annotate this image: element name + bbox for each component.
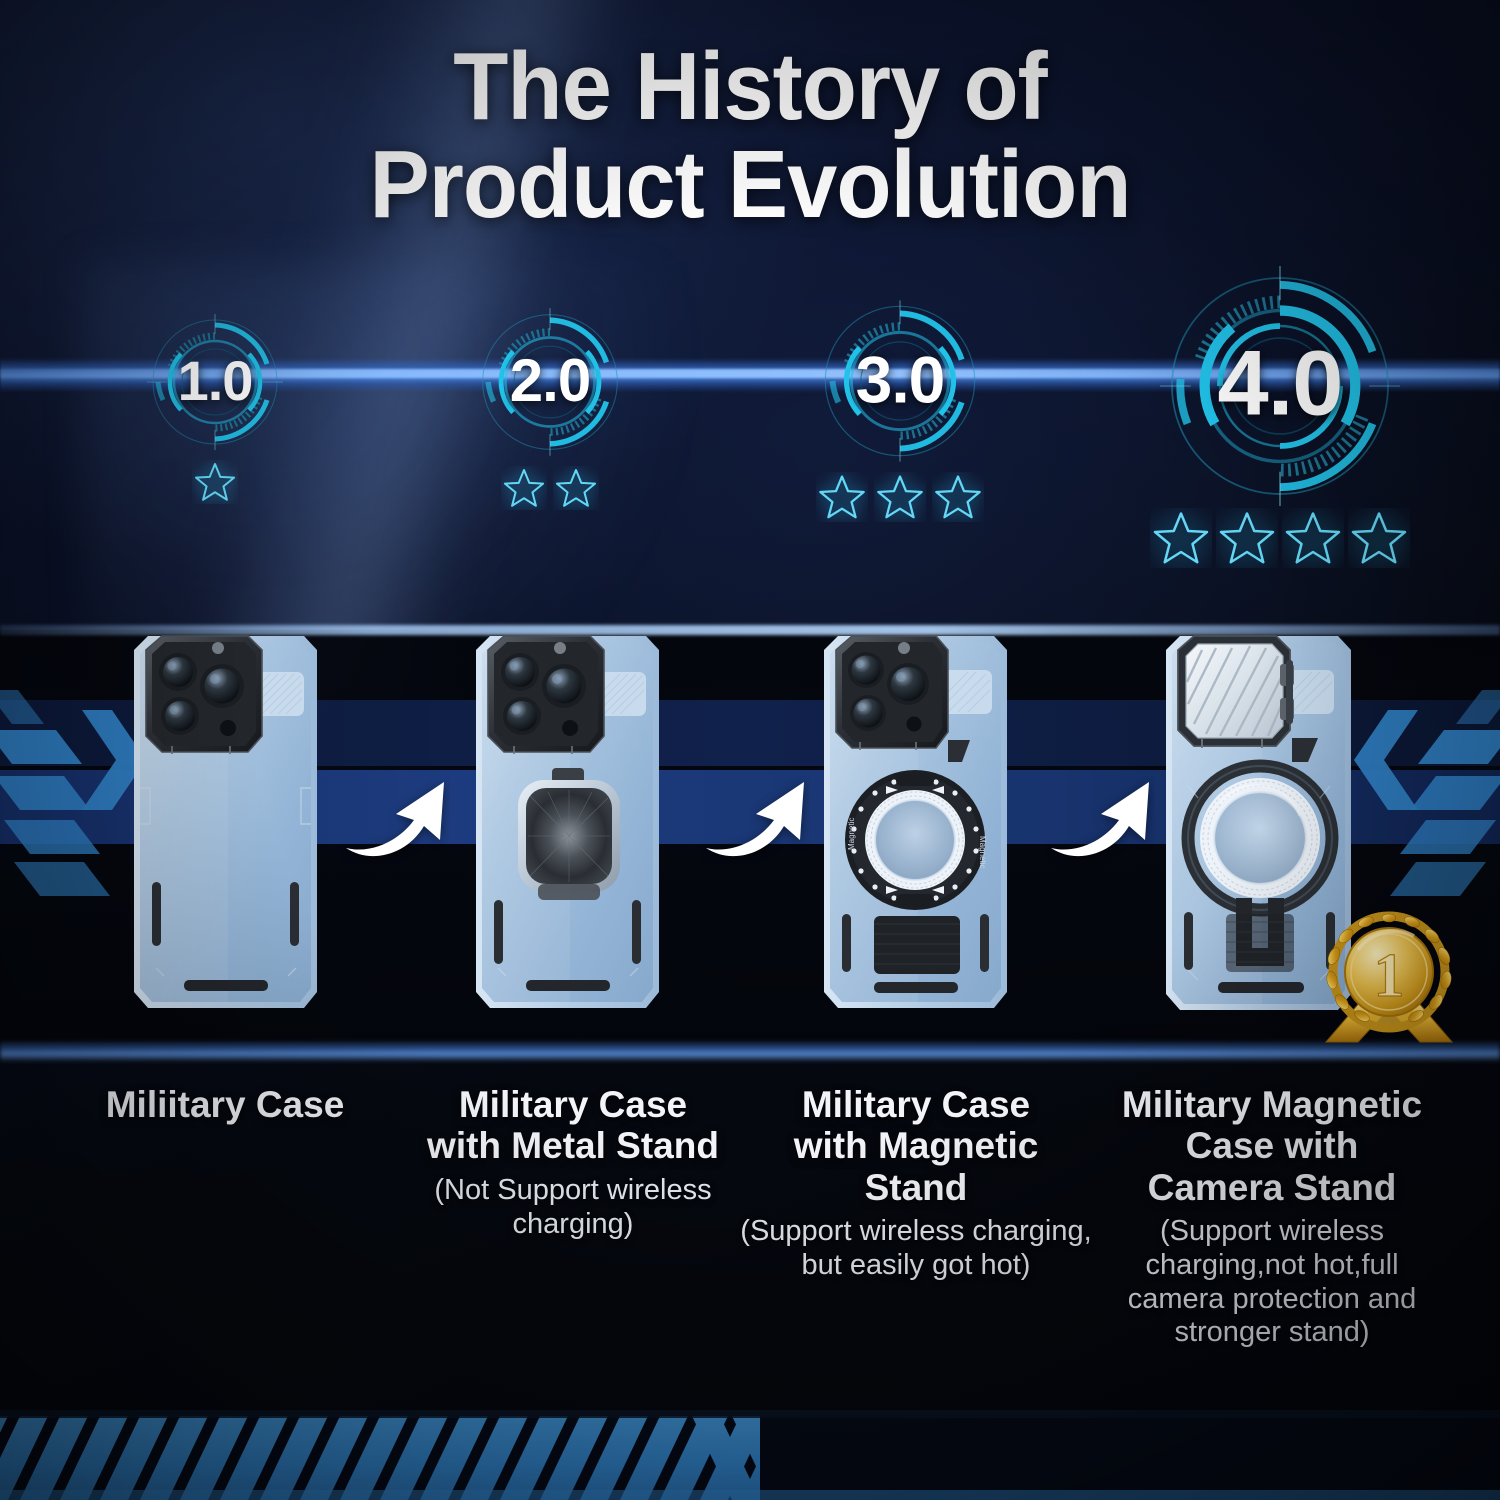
- camera-cover-panel: [1186, 644, 1283, 738]
- infographic-canvas: The History of Product Evolution: [0, 0, 1500, 1500]
- star-icon: [1282, 508, 1344, 568]
- version-badge-row: 1.0: [0, 270, 1500, 600]
- page-title: The History of Product Evolution: [45, 38, 1455, 234]
- product-image-military-case[interactable]: [118, 628, 333, 1023]
- version-badge-1[interactable]: 1.0: [105, 312, 325, 504]
- first-place-medal: 1: [1318, 910, 1468, 1057]
- title-line-1: The History of: [453, 33, 1046, 140]
- caption-subtitle: (Support wireless charging, but easily g…: [736, 1215, 1096, 1282]
- caption-military-case-metal-stand: Military Case with Metal Stand (Not Supp…: [388, 1084, 758, 1241]
- caption-title: Miliitary Case: [30, 1084, 420, 1125]
- star-rating-1: [105, 460, 325, 504]
- bottom-stripe-decoration: [0, 1390, 1500, 1500]
- magsafe-ring-label: Magnetic: [847, 818, 856, 850]
- caption-military-case: Miliitary Case: [30, 1084, 420, 1132]
- star-rating-2: [440, 466, 660, 510]
- caption-title: Military Case with Magnetic Stand: [736, 1084, 1096, 1208]
- caption-title: Military Case with Metal Stand: [388, 1084, 758, 1167]
- product-image-military-case-magnetic-stand[interactable]: Magnetic Magnetic: [808, 628, 1023, 1023]
- title-line-2: Product Evolution: [45, 136, 1455, 234]
- star-icon: [553, 466, 599, 510]
- version-badge-3[interactable]: 3.0: [790, 298, 1010, 522]
- caption-subtitle: (Support wireless charging,not hot,full …: [1092, 1215, 1452, 1350]
- hud-ring-4: 4.0: [1160, 266, 1400, 506]
- caption-row: Miliitary Case Military Case with Metal …: [0, 1078, 1500, 1378]
- hud-bar-product-bottom: [0, 1040, 1500, 1062]
- product-row: Magnetic Magnetic: [0, 630, 1500, 1042]
- version-badge-2[interactable]: 2.0: [440, 306, 660, 510]
- star-icon: [874, 472, 926, 522]
- curved-up-arrow-icon: [1045, 770, 1155, 866]
- star-icon: [192, 460, 238, 504]
- star-icon: [932, 472, 984, 522]
- curved-up-arrow-icon: [340, 770, 450, 866]
- evolution-arrow-1: [340, 770, 450, 871]
- caption-subtitle: (Not Support wireless charging): [388, 1174, 758, 1241]
- star-rating-4: [1120, 508, 1440, 568]
- caption-military-magnetic-case-camera-stand: Military Magnetic Case with Camera Stand…: [1092, 1084, 1452, 1350]
- star-icon: [816, 472, 868, 522]
- star-icon: [1216, 508, 1278, 568]
- caption-title: Military Magnetic Case with Camera Stand: [1092, 1084, 1452, 1208]
- star-icon: [1150, 508, 1212, 568]
- version-number-label: 4.0: [1160, 331, 1400, 436]
- curved-up-arrow-icon: [700, 770, 810, 866]
- version-badge-4[interactable]: 4.0: [1120, 266, 1440, 568]
- medal-number: 1: [1374, 942, 1405, 1010]
- evolution-arrow-3: [1045, 770, 1155, 871]
- star-icon: [501, 466, 547, 510]
- hud-ring-1: 1.0: [145, 312, 285, 452]
- product-image-military-case-metal-stand[interactable]: [460, 628, 675, 1023]
- version-number-label: 1.0: [145, 348, 285, 413]
- caption-military-case-magnetic-stand: Military Case with Magnetic Stand (Suppo…: [736, 1084, 1096, 1283]
- star-icon: [1348, 508, 1410, 568]
- hud-ring-3: 3.0: [817, 298, 983, 464]
- version-number-label: 3.0: [817, 341, 983, 417]
- hud-ring-2: 2.0: [474, 306, 626, 458]
- star-rating-3: [790, 472, 1010, 522]
- evolution-arrow-2: [700, 770, 810, 871]
- version-number-label: 2.0: [474, 346, 626, 415]
- magsafe-ring-label: Magnetic: [978, 836, 987, 868]
